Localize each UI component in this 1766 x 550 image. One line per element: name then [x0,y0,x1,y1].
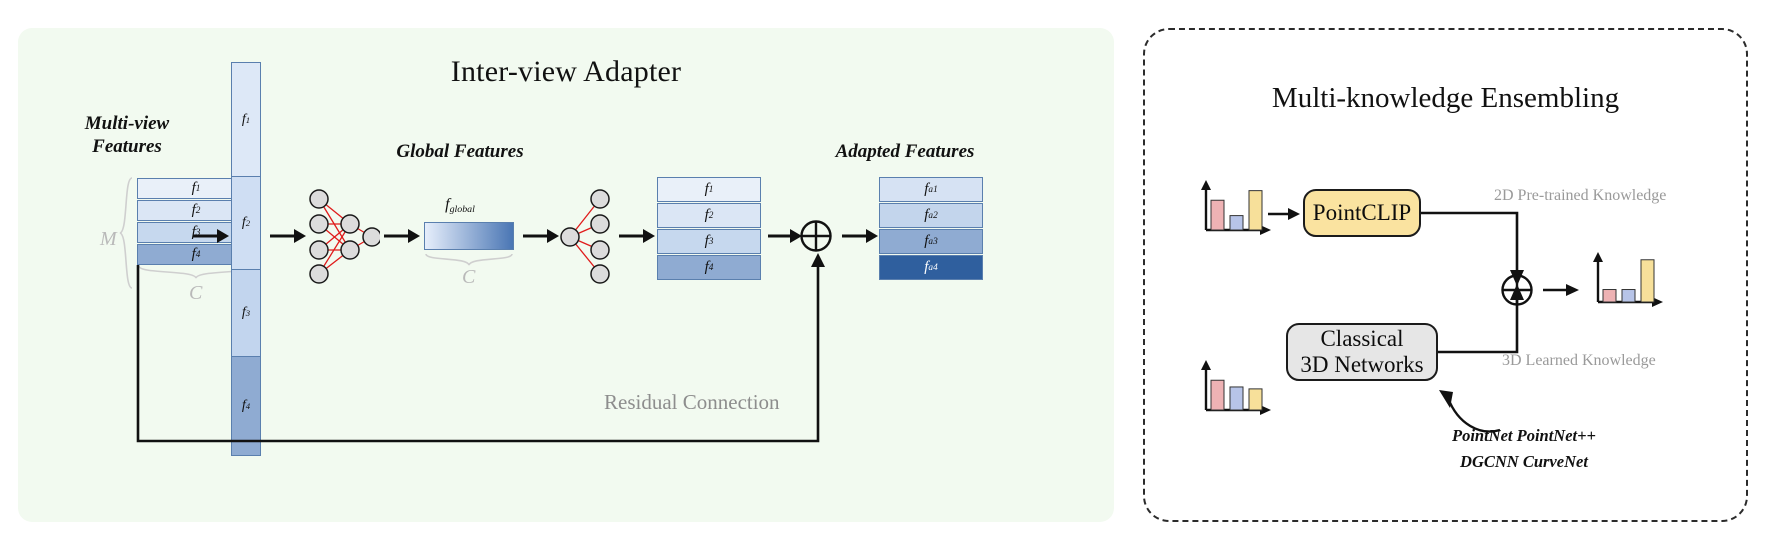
pointclip-label: PointCLIP [1313,200,1411,226]
adapted-feature-row: fa2 [879,203,983,228]
dim-M-label: M [100,228,117,251]
pointclip-input-histogram [1196,178,1274,245]
arrow-decoder-to-features [617,225,657,247]
network-names-line2: DGCNN CurveNet [1452,449,1596,475]
network-names-line1: PointNet PointNet++ [1452,423,1596,449]
multiview-features-label-line2: Features [42,135,212,158]
adapted-feature-row: fa1 [879,177,983,202]
knowledge-3d-label: 3D Learned Knowledge [1502,352,1656,370]
pointclip-box[interactable]: PointCLIP [1303,189,1421,237]
intermediate-feature-row: f1 [657,177,761,202]
page-title: Inter-view Adapter [18,55,1114,89]
classical3d-input-histogram [1196,358,1274,425]
adapted-features-label: Adapted Features [790,140,1020,163]
f-global-label: fglobal [405,196,515,215]
classical-3d-networks-label: Classical 3D Networks [1300,326,1423,378]
right-panel-title: Multi-knowledge Ensembling [1143,82,1748,115]
knowledge-2d-label: 2D Pre-trained Knowledge [1494,187,1666,205]
concatenated-feature-segment: f1 [231,62,261,177]
ensembled-output-histogram [1588,250,1666,317]
global-features-label: Global Features [355,140,565,163]
classical-line1: Classical [1320,326,1403,351]
adapted-feature-stack: fa1fa2fa3fa4 [879,177,983,280]
arrow-global-to-decoder [521,225,561,247]
network-names-list: PointNet PointNet++ DGCNN CurveNet [1452,423,1596,474]
multiview-features-label: Multi-view Features [42,112,212,158]
adapted-feature-row: fa3 [879,229,983,254]
arrow-column-to-encoder [268,225,308,247]
residual-connection-label: Residual Connection [604,390,780,415]
arrow-add-to-adapted [840,225,880,247]
f-global-subscript: global [450,204,475,215]
arrow-hist-to-pointclip [1268,204,1302,224]
arrow-encoder-to-global [382,225,422,247]
arrow-stack-to-column [191,225,231,247]
intermediate-feature-row: f2 [657,203,761,228]
plus-circle-icon-ensemble [1499,272,1535,308]
adapted-feature-row: fa4 [879,255,983,280]
residual-connection-path [130,245,830,450]
classical-line2: 3D Networks [1300,352,1423,377]
multiview-features-label-line1: Multi-view [42,112,212,135]
arrow-add-to-output [1543,280,1581,300]
